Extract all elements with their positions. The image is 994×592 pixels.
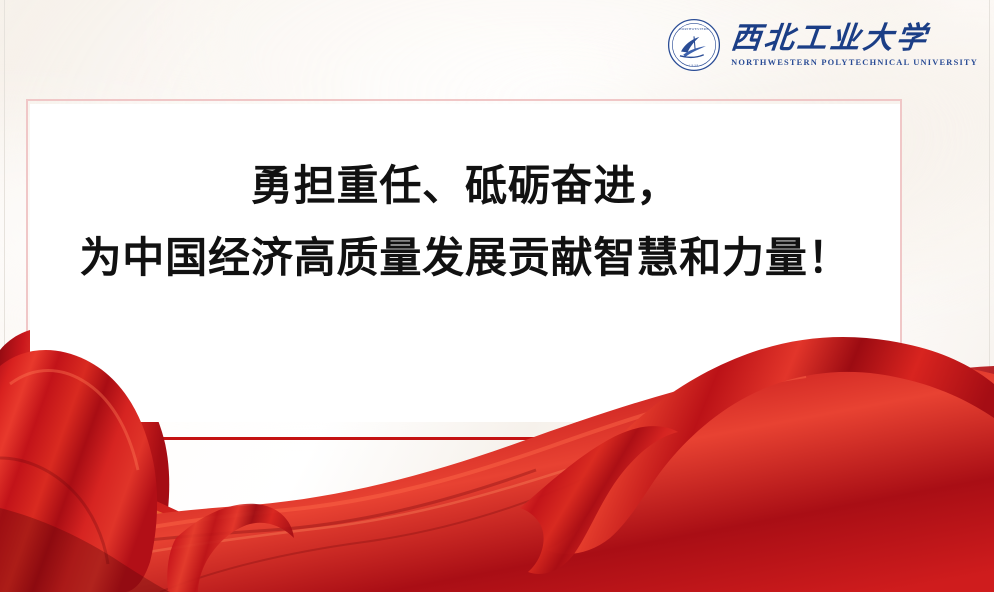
slide-canvas: 勇担重任、砥砺奋进， 为中国经济高质量发展贡献智慧和力量！ NORTHWESTE… (0, 0, 994, 592)
logo-wordmark: 西北工业大学 NORTHWESTERN POLYTECHNICAL UNIVER… (731, 23, 978, 67)
logo-chinese-name: 西北工业大学 (729, 23, 930, 55)
svg-text:NORTHWESTERN: NORTHWESTERN (679, 27, 709, 31)
headline-line-1: 勇担重任、砥砺奋进， (30, 156, 900, 216)
quote-card: 勇担重任、砥砺奋进， 为中国经济高质量发展贡献智慧和力量！ (30, 104, 900, 422)
university-logo: NORTHWESTERN 1938 西北工业大学 NORTHWESTERN PO… (667, 14, 978, 76)
nwpu-circular-emblem-icon: NORTHWESTERN 1938 (667, 18, 721, 72)
logo-english-name: NORTHWESTERN POLYTECHNICAL UNIVERSITY (731, 58, 978, 67)
quote-card-content: 勇担重任、砥砺奋进， 为中国经济高质量发展贡献智慧和力量！ (30, 156, 900, 287)
headline-line-2: 为中国经济高质量发展贡献智慧和力量！ (30, 228, 900, 288)
svg-text:1938: 1938 (689, 64, 699, 68)
